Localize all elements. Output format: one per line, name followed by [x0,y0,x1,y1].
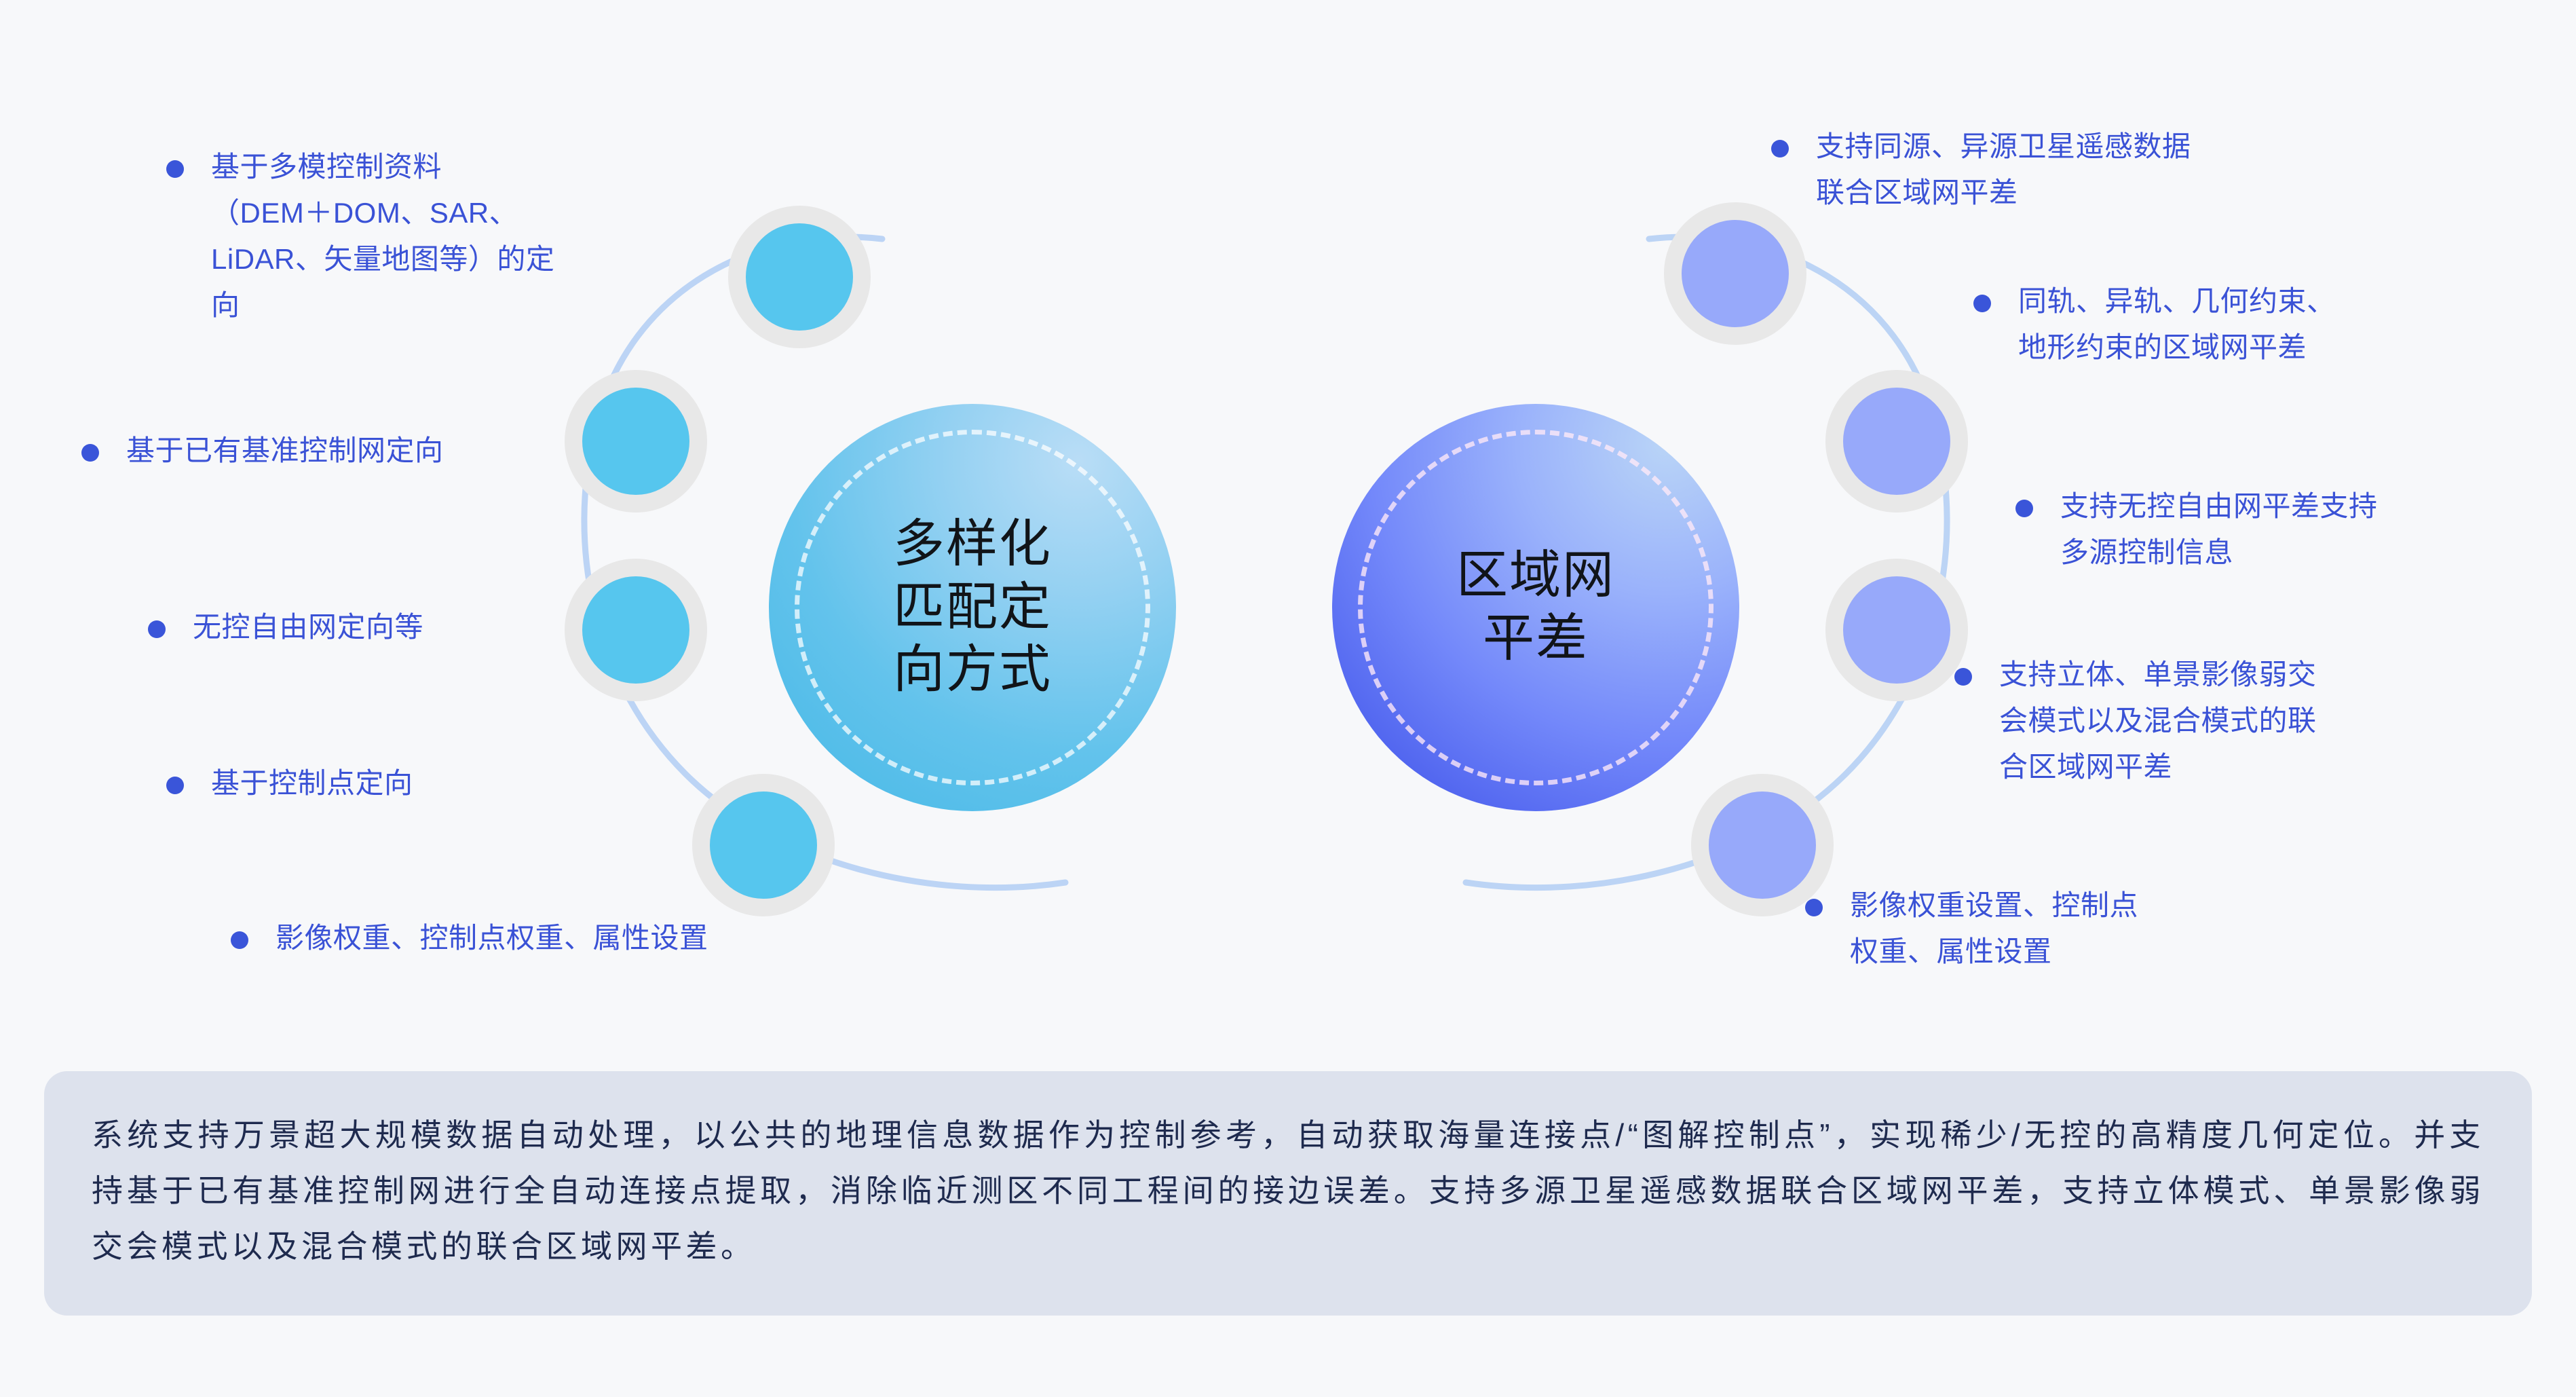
bullet-dot-icon [166,160,184,178]
node-right-3[interactable] [1825,559,1968,701]
bullet-left-4-label: 基于控制点定向 [211,760,413,806]
hub-label-left: 多样化 匹配定 向方式 [893,513,1052,702]
bullet-dot-icon [1954,668,1972,686]
bullet-dot-icon [166,777,184,794]
bullet-left-5-label: 影像权重、控制点权重、属性设置 [276,915,708,961]
bullet-left-5: 影像权重、控制点权重、属性设置 [231,915,875,961]
node-right-1[interactable] [1664,202,1806,345]
node-left-4[interactable] [692,774,835,916]
bullet-right-3: 支持无控自由网平差支持 多源控制信息 [2015,483,2558,576]
bullet-right-4-label: 支持立体、单景影像弱交 会模式以及混合模式的联 合区域网平差 [1999,652,2317,790]
bullet-right-3-label: 支持无控自由网平差支持 多源控制信息 [2060,483,2378,576]
bullet-dot-icon [2015,500,2033,517]
summary-paragraph: 系统支持万景超大规模数据自动处理，以公共的地理信息数据作为控制参考，自动获取海量… [92,1108,2484,1275]
infographic-stage: 多样化 匹配定 向方式 区域网 平差 基于多模控制资料 （DEM＋DOM、SAR… [0,0,2576,1397]
bullet-dot-icon [81,444,99,462]
bullet-left-4: 基于控制点定向 [166,760,641,806]
bullet-right-5: 影像权重设置、控制点 权重、属性设置 [1805,882,2348,975]
hub-label-right: 区域网 平差 [1456,544,1615,670]
node-right-2[interactable] [1825,370,1968,513]
bullet-right-4: 支持立体、单景影像弱交 会模式以及混合模式的联 合区域网平差 [1954,652,2490,790]
bullet-left-3: 无控自由网定向等 [148,604,623,650]
bullet-left-1-label: 基于多模控制资料 （DEM＋DOM、SAR、 LiDAR、矢量地图等）的定 向 [211,144,554,329]
hub-circle-left: 多样化 匹配定 向方式 [769,404,1176,811]
bullet-right-2-label: 同轨、异轨、几何约束、 地形约束的区域网平差 [2018,278,2336,371]
node-left-1[interactable] [728,206,871,348]
bullet-right-1-label: 支持同源、异源卫星遥感数据 联合区域网平差 [1816,124,2191,216]
bullet-dot-icon [1771,140,1789,157]
bullet-dot-icon [1805,899,1823,916]
bullet-dot-icon [1973,295,1991,312]
bullet-left-3-label: 无控自由网定向等 [193,604,423,650]
bullet-left-2: 基于已有基准控制网定向 [81,428,611,474]
bullet-dot-icon [231,931,248,949]
bullet-right-1: 支持同源、异源卫星遥感数据 联合区域网平差 [1771,124,2328,216]
hub-circle-right: 区域网 平差 [1332,404,1739,811]
bullet-left-2-label: 基于已有基准控制网定向 [126,428,444,474]
summary-panel: 系统支持万景超大规模数据自动处理，以公共的地理信息数据作为控制参考，自动获取海量… [44,1071,2532,1316]
bullet-dot-icon [148,620,166,638]
bullet-right-2: 同轨、异轨、几何约束、 地形约束的区域网平差 [1973,278,2509,371]
bullet-right-5-label: 影像权重设置、控制点 权重、属性设置 [1850,882,2138,975]
bullet-left-1: 基于多模控制资料 （DEM＋DOM、SAR、 LiDAR、矢量地图等）的定 向 [166,144,675,329]
